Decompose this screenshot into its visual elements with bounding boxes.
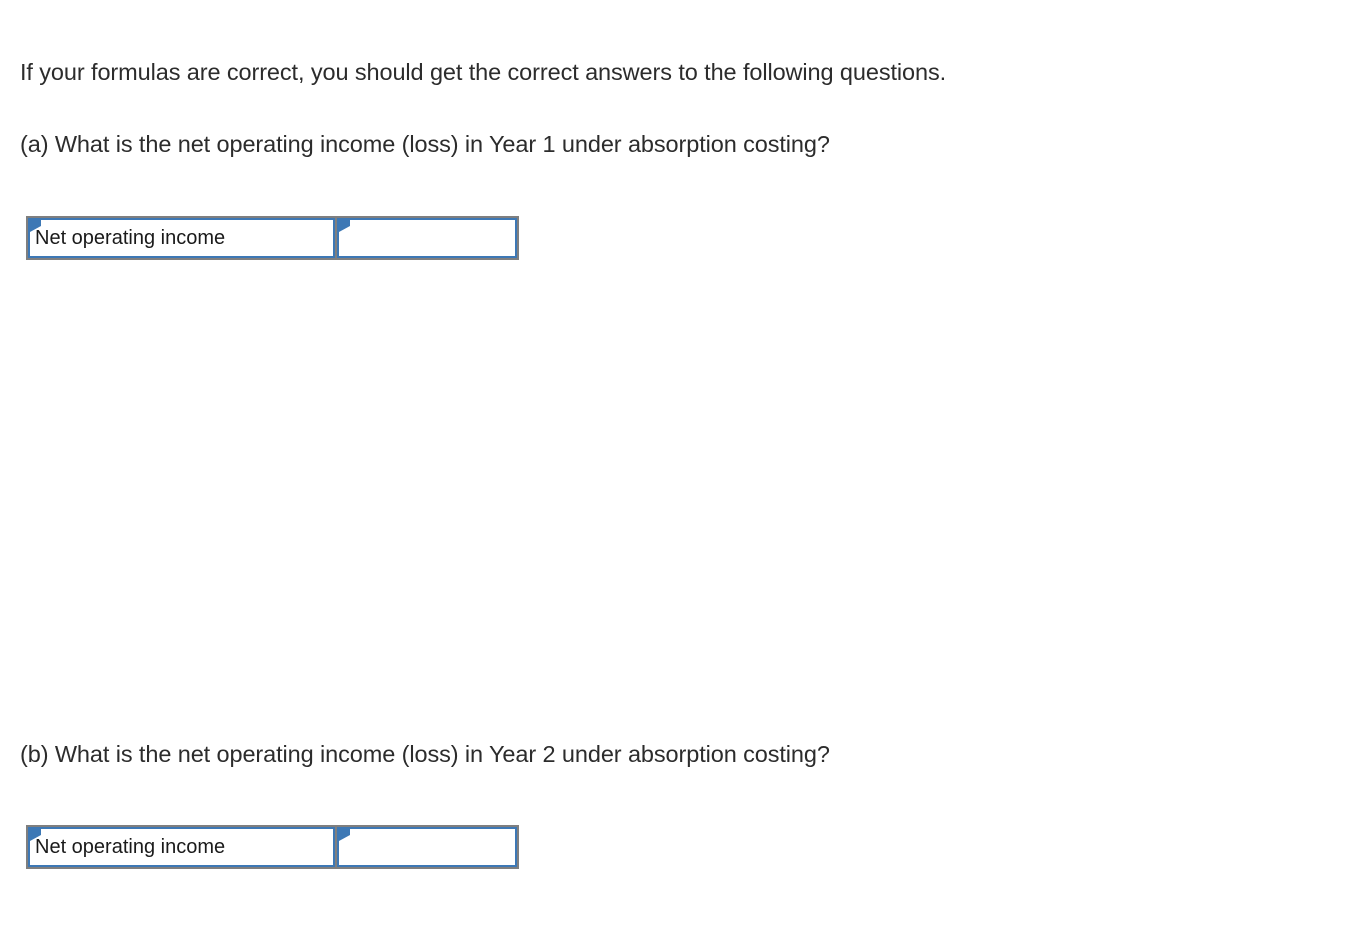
answer-table-a: Net operating income [26, 216, 519, 260]
answer-a-value-cell[interactable] [337, 218, 517, 258]
intro-text: If your formulas are correct, you should… [20, 58, 946, 86]
question-a-prompt: (a) What is the net operating income (lo… [20, 130, 830, 158]
answer-a-label-cell[interactable]: Net operating income [28, 218, 335, 258]
answer-b-label-cell[interactable]: Net operating income [28, 827, 335, 867]
answer-b-value-cell[interactable] [337, 827, 517, 867]
cell-marker-triangle-icon [339, 829, 350, 841]
answer-table-b: Net operating income [26, 825, 519, 869]
answer-b-label-text: Net operating income [30, 837, 225, 857]
answer-a-label-text: Net operating income [30, 228, 225, 248]
question-b-prompt: (b) What is the net operating income (lo… [20, 740, 830, 768]
cell-marker-triangle-icon [339, 220, 350, 232]
